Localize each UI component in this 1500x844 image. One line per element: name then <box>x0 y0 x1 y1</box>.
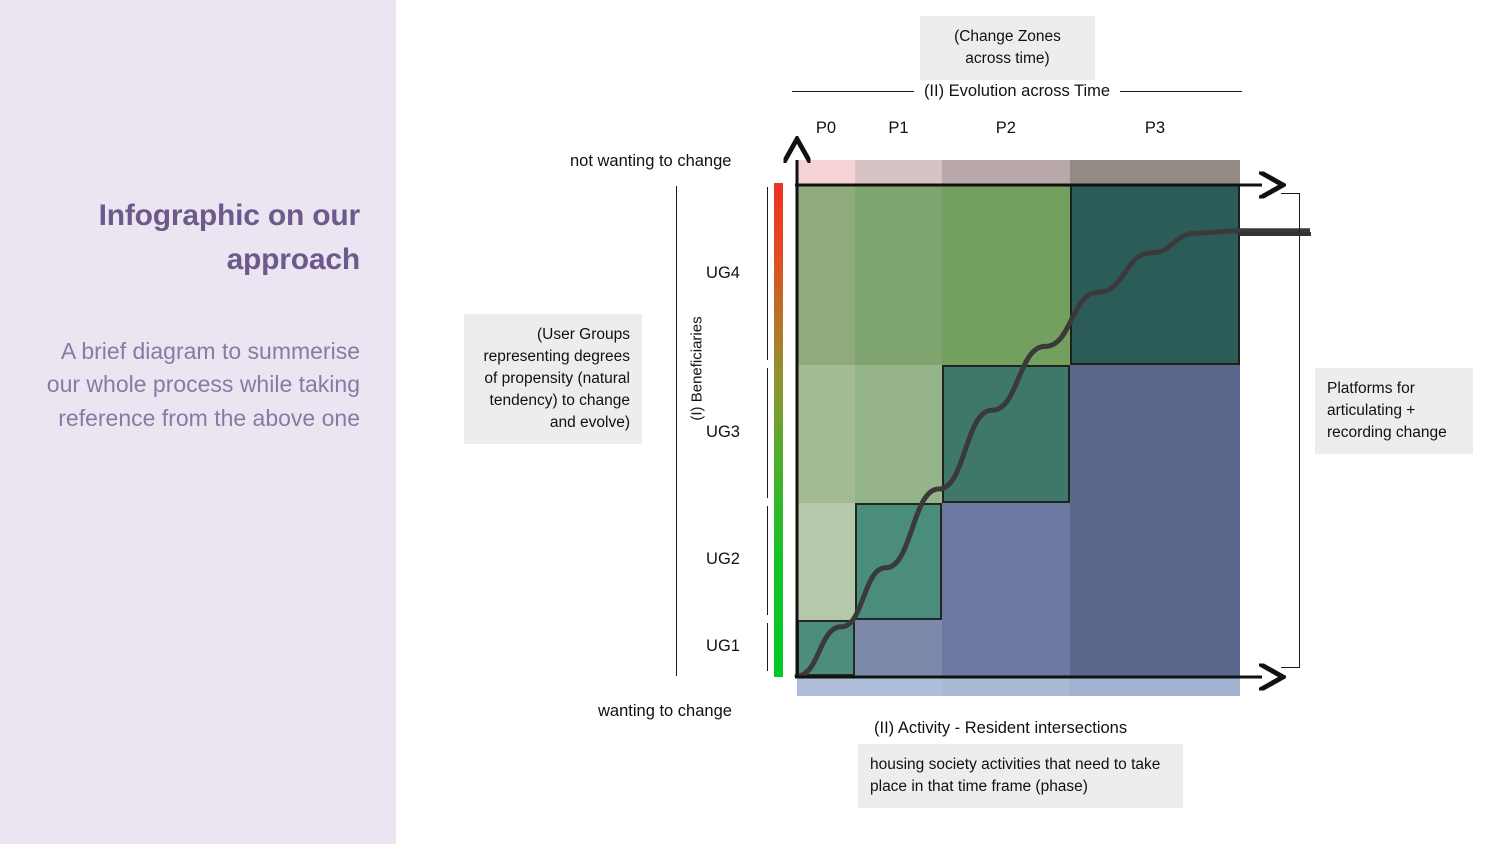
platforms-bracket-stem <box>1239 232 1311 236</box>
slide-canvas: Infographic on our approach A brief diag… <box>0 0 1500 844</box>
platforms-bracket <box>1281 193 1300 668</box>
axis-arrows <box>0 0 1500 844</box>
